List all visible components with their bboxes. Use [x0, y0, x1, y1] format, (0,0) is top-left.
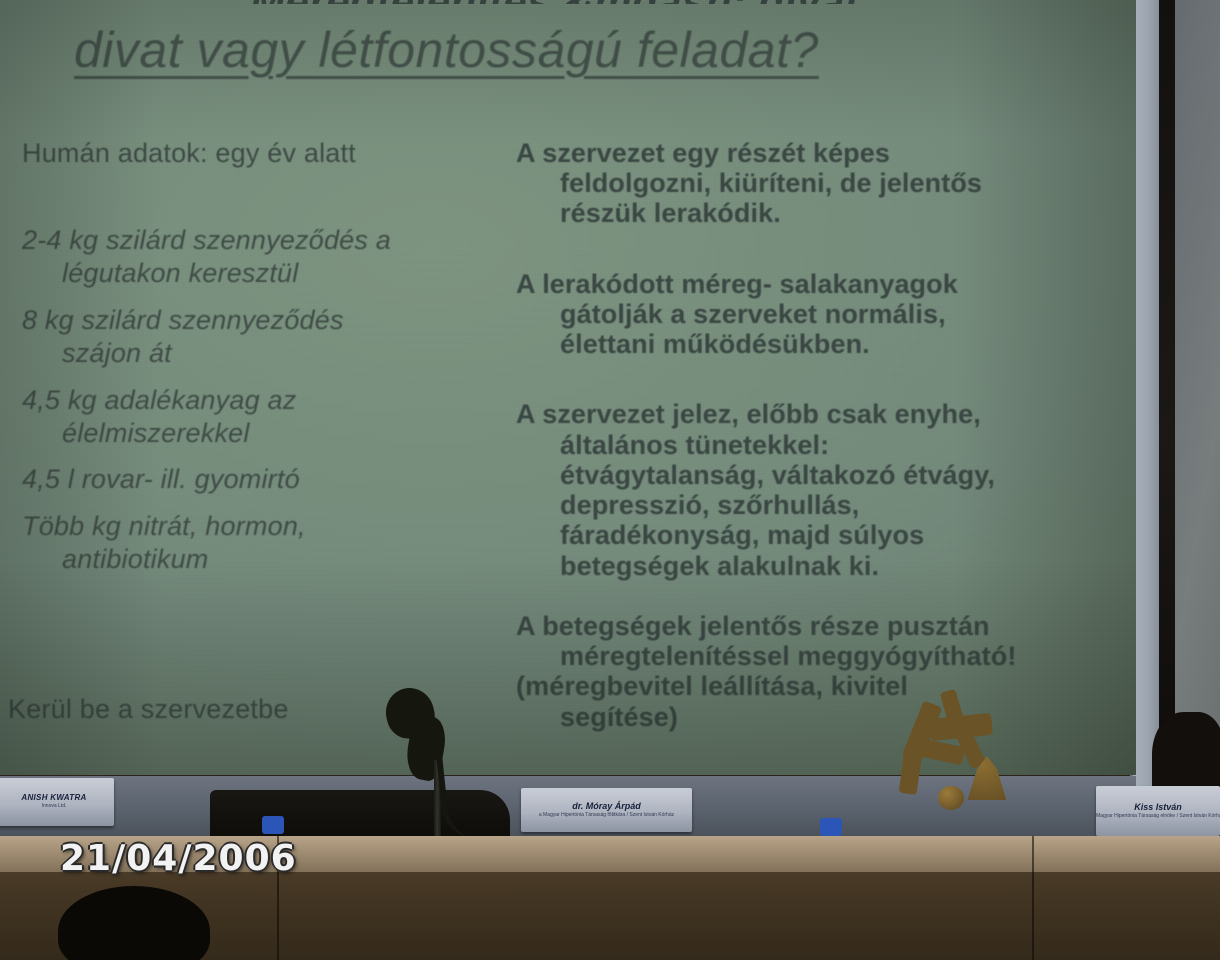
left-item-2: 8 kg szilárd szennyeződés szájon át	[22, 304, 502, 370]
right-p3-l6: betegségek alakulnak ki.	[516, 551, 1116, 581]
right-p1-l2: feldolgozni, kiüríteni, de jelentős	[516, 168, 1116, 198]
right-p4-l1: A betegségek jelentős része pusztán	[516, 611, 990, 641]
left-column-lead: Humán adatok: egy év alatt	[22, 138, 502, 170]
slide-left-column: Humán adatok: egy év alatt 2-4 kg szilár…	[22, 138, 502, 590]
blue-object-right	[820, 818, 842, 836]
bell-knob	[938, 786, 964, 810]
right-p4-l4: segítése)	[516, 702, 1116, 732]
right-paragraph-4: A betegségek jelentős része pusztán mére…	[516, 611, 1116, 732]
right-p3-l1: A szervezet jelez, előbb csak enyhe,	[516, 399, 981, 429]
left-item-2-cont: szájon át	[22, 337, 502, 370]
nameplate-left-name: ANISH KWATRA	[21, 794, 86, 803]
right-p1-l3: részük lerakódik.	[516, 198, 1116, 228]
slide-title: divat vagy létfontosságú feladat?	[74, 24, 1074, 77]
left-item-3: 4,5 kg adalékanyag az élelmiszerekkel	[22, 384, 502, 450]
right-p4-l3: (méregbevitel leállítása, kivitel	[516, 671, 908, 701]
projection-screen-frame	[1133, 0, 1159, 800]
camera-date-stamp: 21/04/2006	[60, 838, 297, 879]
left-item-5-main: Több kg nitrát, hormon,	[22, 511, 306, 541]
nameplate-center-name: dr. Móray Árpád	[572, 802, 641, 812]
slide-content: Méregtelenítés &mdash; divat vagy divat …	[0, 0, 1136, 775]
right-p3-l4: depresszió, szőrhullás,	[516, 490, 1116, 520]
right-p3-l5: fáradékonyság, majd súlyos	[516, 520, 1116, 550]
left-item-3-main: 4,5 kg adalékanyag az	[22, 385, 296, 415]
wall-dark-gap	[1158, 0, 1175, 790]
left-item-3-cont: élelmiszerekkel	[22, 417, 502, 450]
nameplate-right-sub: a Magyar Hipertónia Társaság elnöke / Sz…	[1096, 813, 1220, 819]
left-item-2-main: 8 kg szilárd szennyeződés	[22, 305, 344, 335]
right-p3-l2: általános tünetekkel:	[516, 430, 1116, 460]
nameplate-center-sub: a Magyar Hipertónia Társaság főtitkára /…	[539, 812, 674, 818]
slide-right-column: A szervezet egy részét képes feldolgozni…	[516, 138, 1116, 772]
right-p3-l3: étvágytalanság, váltakozó étvágy,	[516, 460, 1116, 490]
projection-screen: Méregtelenítés &mdash; divat vagy divat …	[0, 0, 1136, 775]
slide-title-clipped-line: Méregtelenítés &mdash; divat vagy	[250, 0, 870, 4]
nameplate-right: Kiss István a Magyar Hipertónia Társaság…	[1096, 786, 1220, 836]
right-paragraph-1: A szervezet egy részét képes feldolgozni…	[516, 138, 1116, 229]
left-item-5-cont: antibiotikum	[22, 543, 502, 576]
left-item-1-cont: légutakon keresztül	[22, 257, 502, 290]
right-paragraph-3: A szervezet jelez, előbb csak enyhe, ált…	[516, 399, 1116, 580]
right-p2-l3: élettani működésükben.	[516, 329, 1116, 359]
right-p1-l1: A szervezet egy részét képes	[516, 138, 890, 168]
nameplate-left: ANISH KWATRA Innova Ltd.	[0, 778, 114, 826]
left-item-4: 4,5 l rovar- ill. gyomirtó	[22, 463, 502, 496]
right-p4-l2: méregtelenítéssel meggyógyítható!	[516, 641, 1116, 671]
left-item-5: Több kg nitrát, hormon, antibiotikum	[22, 510, 502, 576]
nameplate-right-name: Kiss István	[1134, 803, 1182, 813]
nameplate-left-sub: Innova Ltd.	[42, 803, 67, 809]
right-paragraph-2: A lerakódott méreg- salakanyagok gátoljá…	[516, 269, 1116, 360]
slide-title-clipped-text: Méregtelenítés &mdash; divat vagy	[250, 0, 870, 4]
right-p2-l2: gátolják a szerveket normális,	[516, 299, 1116, 329]
blue-object-left	[262, 816, 284, 834]
table-panel-seam	[1032, 836, 1034, 960]
left-item-1-main: 2-4 kg szilárd szennyeződés a	[22, 225, 391, 255]
left-item-1: 2-4 kg szilárd szennyeződés a légutakon …	[22, 224, 502, 290]
photograph: Méregtelenítés &mdash; divat vagy divat …	[0, 0, 1220, 960]
left-item-4-main: 4,5 l rovar- ill. gyomirtó	[22, 464, 300, 494]
left-column-footer: Kerül be a szervezetbe	[8, 694, 289, 725]
nameplate-center: dr. Móray Árpád a Magyar Hipertónia Társ…	[521, 788, 692, 832]
right-p2-l1: A lerakódott méreg- salakanyagok	[516, 269, 958, 299]
